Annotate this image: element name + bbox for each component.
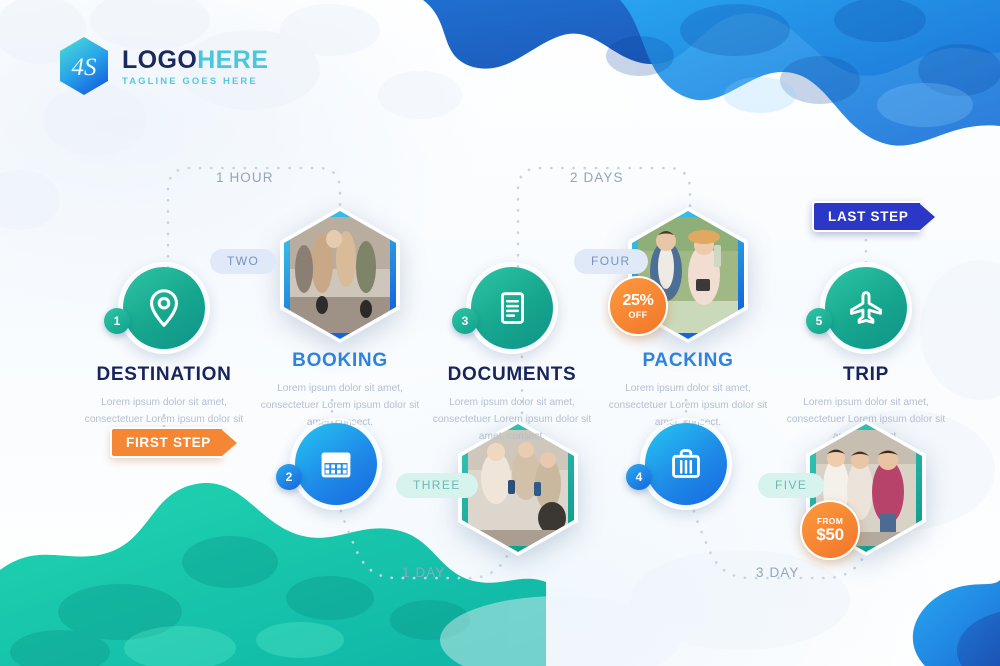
first-step-banner[interactable]: FIRST STEP	[110, 429, 237, 456]
document-icon	[471, 267, 553, 349]
airplane-icon	[825, 267, 907, 349]
first-step-banner-label: FIRST STEP	[110, 427, 222, 458]
booking-icon-node[interactable]: 2	[290, 418, 382, 510]
map-pin-icon	[123, 267, 205, 349]
time-label-1-hour: 1 HOUR	[216, 170, 274, 185]
brand-logo[interactable]: 4S LOGOHERE TAGLINE GOES HERE	[58, 36, 268, 96]
svg-text:4S: 4S	[72, 54, 98, 81]
booking-photo-hexagon[interactable]	[274, 205, 406, 353]
banner-arrow-tip	[222, 430, 237, 456]
packing-icon-node[interactable]: 4	[640, 418, 732, 510]
price-badge: FROM $50	[800, 500, 860, 560]
discount-badge: 25% OFF	[608, 276, 668, 336]
step-number-badge-4: 4	[626, 464, 652, 490]
logo-name-light: HERE	[197, 46, 268, 74]
step-title-destination: DESTINATION	[64, 364, 264, 386]
last-step-banner-label: LAST STEP	[812, 201, 920, 232]
step-description-documents: Lorem ipsum dolor sit amet, consectetuer…	[412, 395, 612, 445]
step-number-badge-2: 2	[276, 464, 302, 490]
destination-icon-node[interactable]: 1	[118, 262, 210, 354]
step-title-documents: DOCUMENTS	[412, 364, 612, 386]
trip-icon-node[interactable]: 5	[820, 262, 912, 354]
banner-arrow-tip	[920, 204, 935, 230]
price-prefix: FROM	[817, 517, 843, 526]
step-number-badge-5: 5	[806, 308, 832, 334]
documents-icon-node[interactable]: 3	[466, 262, 558, 354]
pill-three: THREE	[396, 473, 478, 498]
infographic-canvas: 1 HOUR 2 DAYS 1 DAY 3 DAY 4S LOGOHERE TA…	[0, 0, 1000, 666]
suitcase-icon	[645, 423, 727, 505]
step-title-booking: BOOKING	[240, 350, 440, 372]
logo-tagline: TAGLINE GOES HERE	[122, 77, 268, 87]
calendar-icon	[295, 423, 377, 505]
step-number-badge-1: 1	[104, 308, 130, 334]
time-label-2-days: 2 DAYS	[570, 170, 624, 185]
logo-hexagon-mark: 4S	[58, 36, 110, 96]
time-label-1-day: 1 DAY	[402, 565, 446, 580]
step-column-destination: 1 DESTINATION Lorem ipsum dolor sit amet…	[64, 262, 264, 445]
price-amount: $50	[816, 526, 843, 543]
step-title-packing: PACKING	[588, 350, 788, 372]
time-label-3-day: 3 DAY	[756, 565, 800, 580]
last-step-banner[interactable]: LAST STEP	[812, 203, 935, 230]
step-column-documents: 3 DOCUMENTS Lorem ipsum dolor sit amet, …	[412, 262, 612, 445]
discount-amount: 25%	[622, 293, 653, 309]
step-number-badge-3: 3	[452, 308, 478, 334]
pill-four: FOUR	[574, 249, 648, 274]
pill-two: TWO	[210, 249, 276, 274]
step-title-trip: TRIP	[766, 364, 966, 386]
logo-name-dark: LOGO	[122, 46, 197, 74]
discount-label: OFF	[629, 311, 648, 320]
logo-wordmark: LOGOHERE TAGLINE GOES HERE	[122, 46, 268, 87]
pill-five: FIVE	[758, 473, 824, 498]
